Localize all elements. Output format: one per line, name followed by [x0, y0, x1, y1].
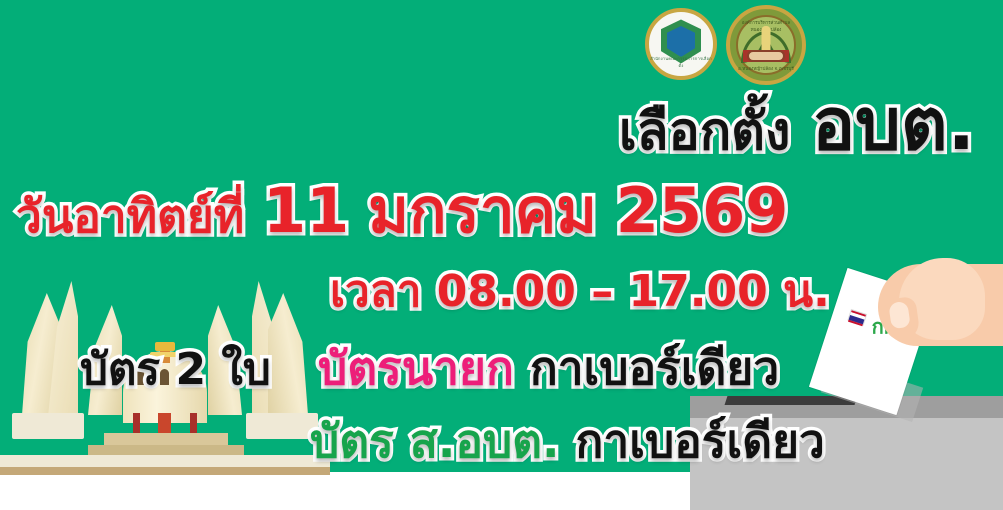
- ballot-row-mayor-label: บัตรนายก: [318, 341, 514, 395]
- date-prefix: วันอาทิตย์ที่: [16, 189, 244, 243]
- headline-lead: เลือกตั้ง: [619, 102, 791, 162]
- handshake-icon: [747, 50, 785, 62]
- seal-ring-text-bottom: อ.หนองหญ้าปล้อง จ.เพชรบุรี: [730, 65, 802, 72]
- ballot-row-mayor: บัตรนายก กาเบอร์เดียว: [318, 345, 779, 391]
- seal-pillar-icon: [762, 26, 771, 52]
- date-day: 11: [263, 174, 349, 247]
- date-year: 2569: [616, 174, 789, 247]
- hand-illustration: [878, 250, 1003, 368]
- election-date-line: วันอาทิตย์ที่ 11 มกราคม 2569: [16, 180, 788, 242]
- thai-flag-icon: [847, 309, 867, 326]
- election-time-line: เวลา 08.00 – 17.00 น.: [330, 270, 830, 314]
- seal-ring-text: สำนักงานคณะกรรมการการเลือกตั้ง: [649, 55, 713, 69]
- ballot-row-council-label: บัตร ส.อบต.: [310, 414, 560, 468]
- ballot-row-council-instruction: กาเบอร์เดียว: [576, 414, 825, 468]
- election-commission-seal-icon: สำนักงานคณะกรรมการการเลือกตั้ง: [645, 8, 717, 80]
- monument-ground: [0, 467, 330, 475]
- date-month: มกราคม: [368, 174, 597, 247]
- headline-main: อบต.: [812, 82, 975, 166]
- ballot-count-label: บัตร 2 ใบ: [80, 348, 271, 392]
- local-administration-seal-icon: องค์การบริหารส่วนตำบลหนองหญ้าปล้อง อ.หนอ…: [726, 5, 806, 85]
- monument-wing-outer-right: [268, 293, 308, 415]
- page-title: เลือกตั้ง อบต.: [619, 88, 975, 160]
- ballot-row-council: บัตร ส.อบต. กาเบอร์เดียว: [310, 418, 825, 464]
- monument-pedestal-right: [246, 413, 318, 439]
- ballot-row-mayor-instruction: กาเบอร์เดียว: [530, 341, 779, 395]
- monument-pedestal-left: [12, 413, 84, 439]
- election-poster: สำนักงานคณะกรรมการการเลือกตั้ง องค์การบร…: [0, 0, 1003, 510]
